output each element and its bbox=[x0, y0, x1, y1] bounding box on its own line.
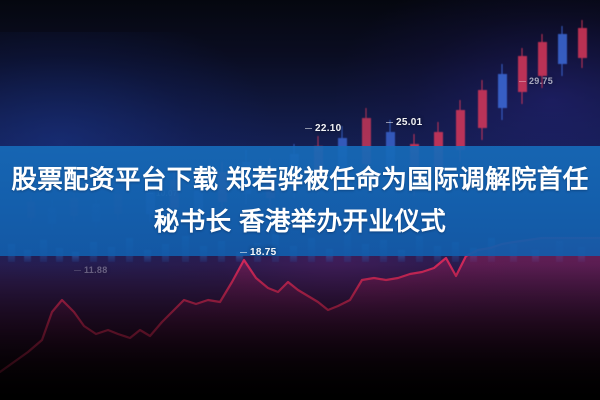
price-label-value: 18.75 bbox=[250, 247, 277, 258]
tick-mark-icon bbox=[240, 252, 247, 253]
title-line-2: 秘书长 香港举办开业仪式 bbox=[154, 201, 446, 243]
price-label-18-75: 18.75 bbox=[240, 247, 277, 258]
tick-mark-icon bbox=[74, 270, 81, 271]
stock-banner-image: 10.07 11.88 22.10 25.01 29.75 股票配资平台下载 郑… bbox=[0, 0, 600, 400]
price-label-22-10: 22.10 bbox=[305, 123, 342, 134]
title-line-1: 股票配资平台下载 郑若骅被任命为国际调解院首任 bbox=[11, 159, 588, 201]
price-label-value: 11.88 bbox=[84, 265, 108, 275]
price-label-value: 29.75 bbox=[529, 76, 553, 86]
price-label-25-01: 25.01 bbox=[386, 117, 423, 128]
bottom-fade bbox=[0, 264, 600, 400]
price-label-11-88: 11.88 bbox=[74, 265, 108, 275]
tick-mark-icon bbox=[519, 81, 526, 82]
price-label-value: 25.01 bbox=[396, 117, 423, 128]
title-banner: 股票配资平台下载 郑若骅被任命为国际调解院首任 秘书长 香港举办开业仪式 bbox=[0, 146, 600, 256]
tick-mark-icon bbox=[305, 128, 312, 129]
price-label-29-75: 29.75 bbox=[519, 76, 553, 86]
price-label-value: 22.10 bbox=[315, 123, 342, 134]
tick-mark-icon bbox=[386, 122, 393, 123]
